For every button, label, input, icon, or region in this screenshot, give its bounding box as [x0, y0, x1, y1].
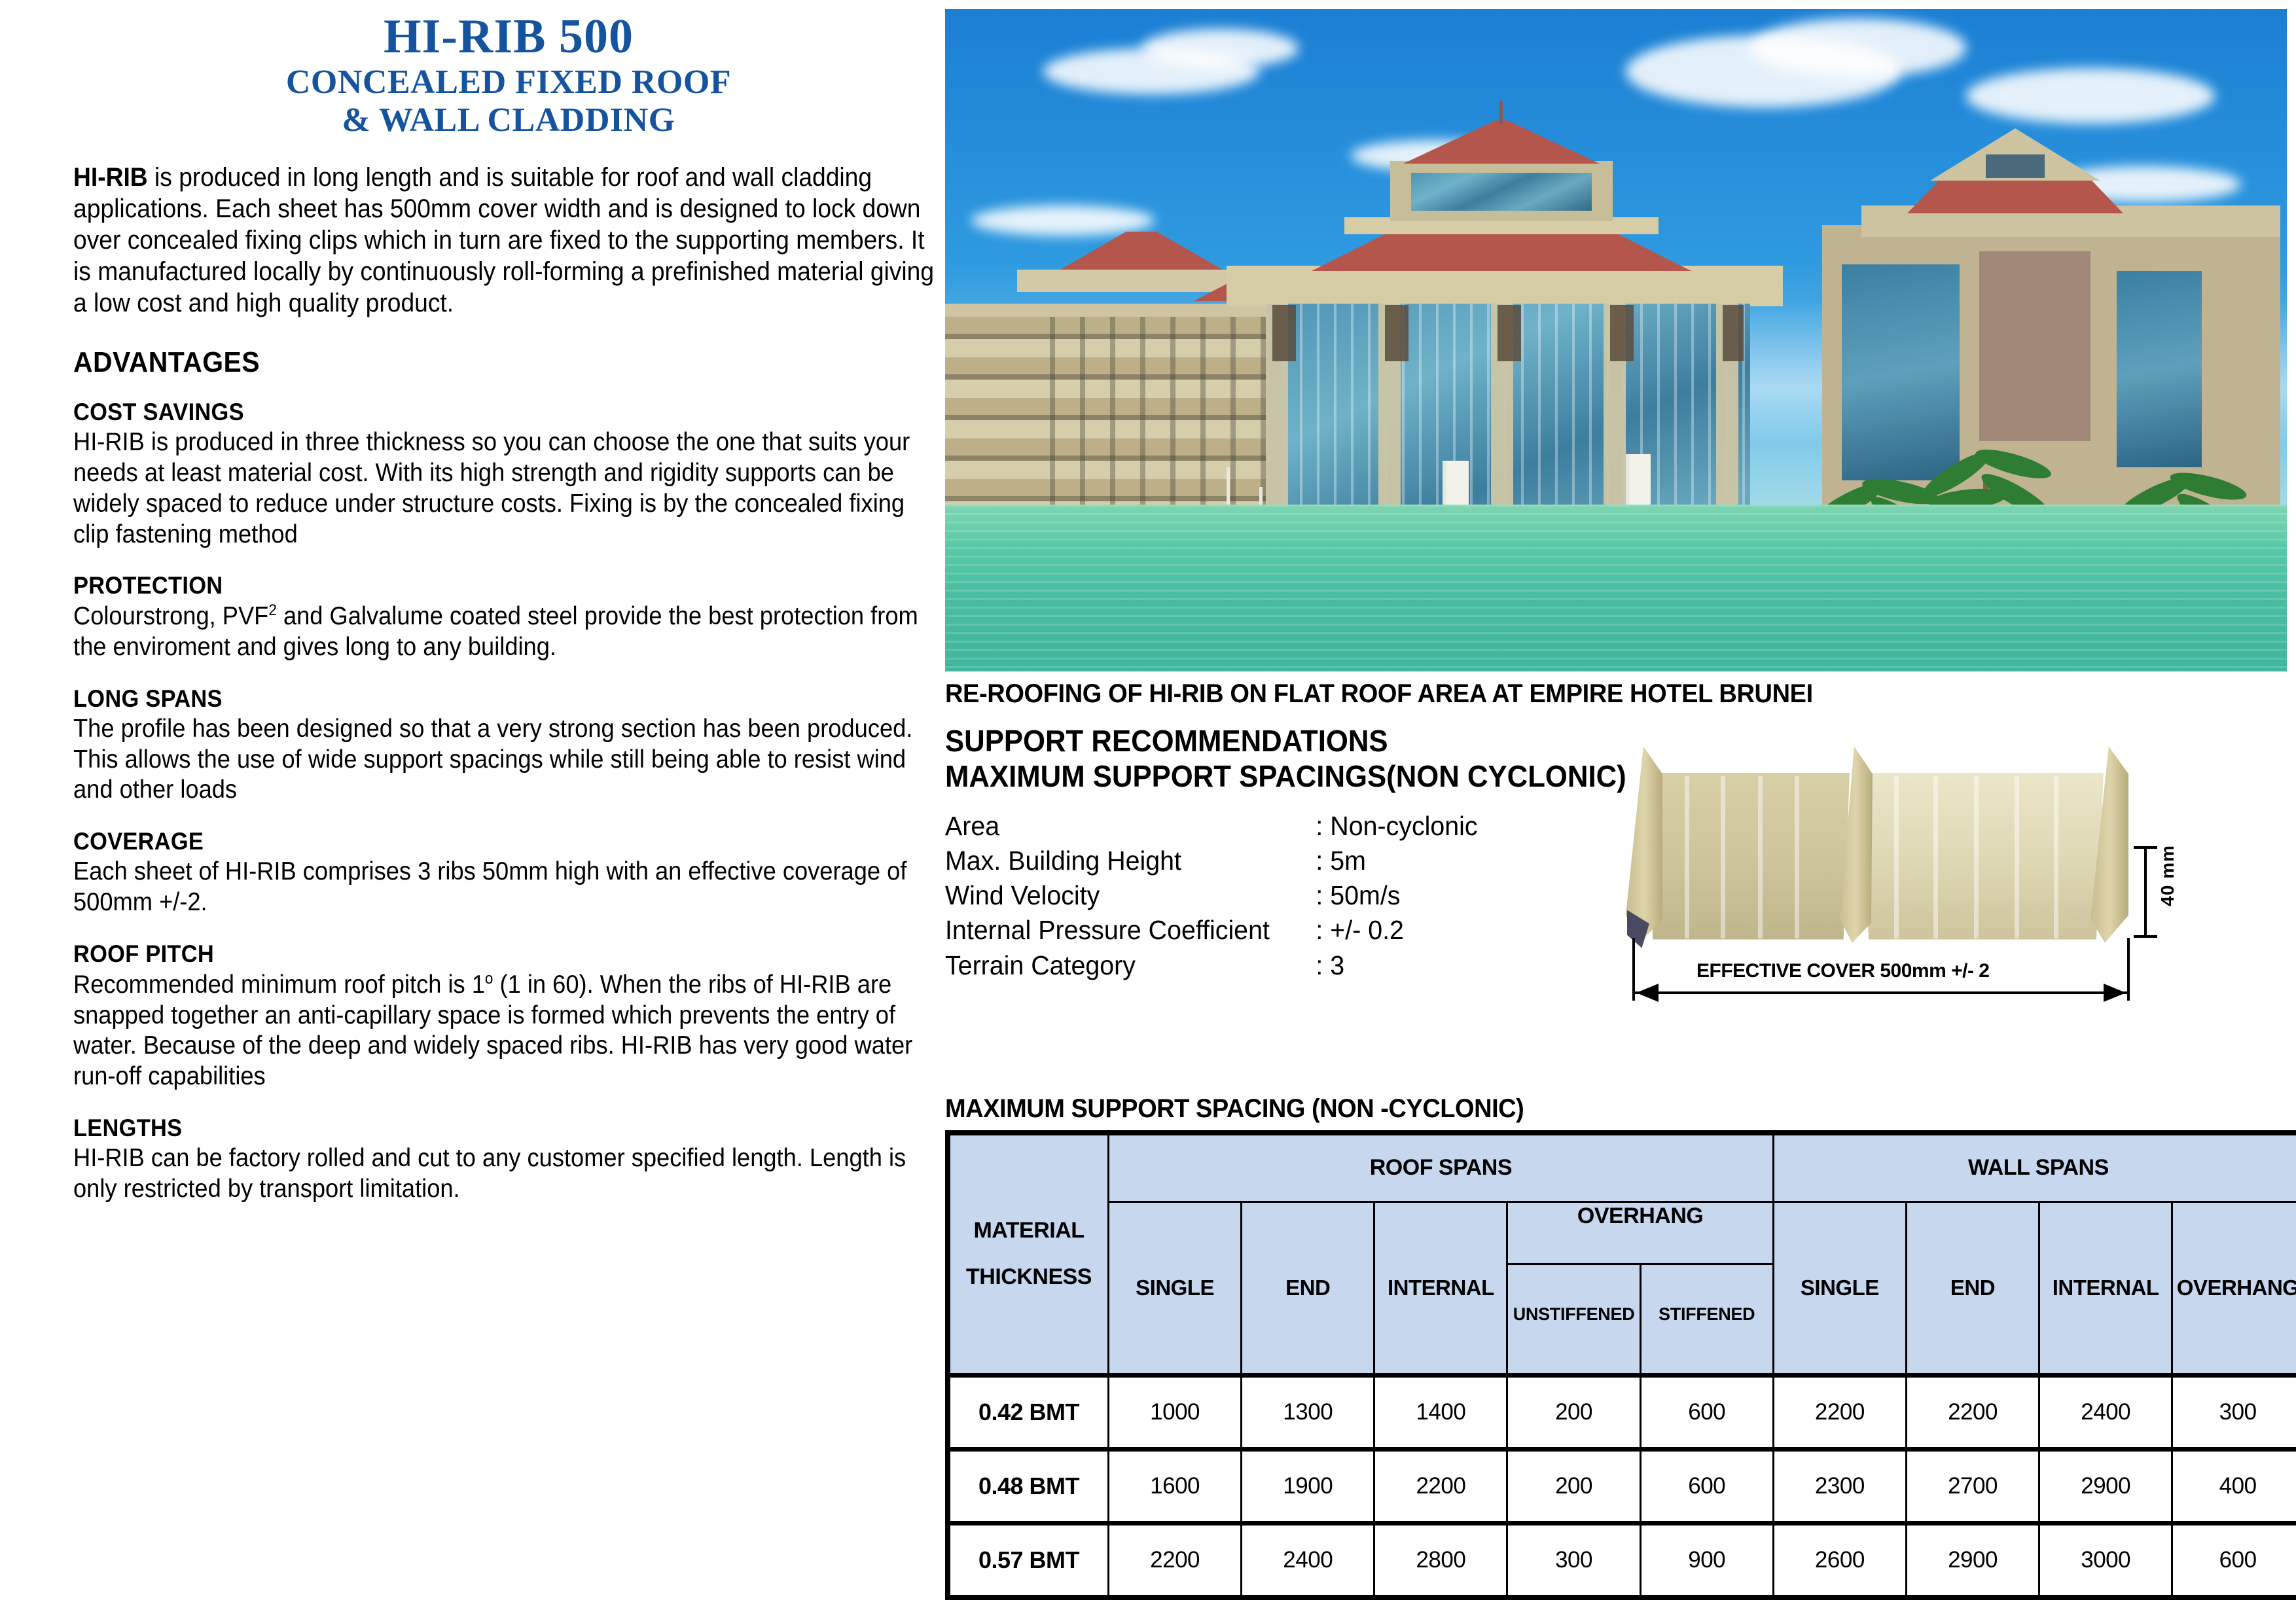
- right-wing-glass: [1842, 264, 1960, 480]
- section-cost-savings: COST SAVINGS HI-RIB is produced in three…: [73, 399, 939, 550]
- table-body: 0.42 BMT 1000 1300 1400 200 600 2200 220…: [948, 1375, 2296, 1597]
- cell-value: 2200: [1906, 1375, 2039, 1449]
- dim-cover-label: EFFECTIVE COVER 500mm +/- 2: [1696, 960, 1989, 982]
- support-spec-list: Area : Non-cyclonic Max. Building Height…: [945, 809, 1606, 983]
- dim-height-line: [2144, 846, 2147, 938]
- left-content-column: HI-RIB 500 CONCEALED FIXED ROOF & WALL C…: [73, 12, 944, 1609]
- cell-value: 2700: [1906, 1449, 2039, 1523]
- col-header-overhang-stiffened: STIFFENED: [1640, 1264, 1773, 1375]
- right-wing-gable-vent: [1986, 154, 2045, 178]
- cell-value: 2900: [1906, 1523, 2039, 1597]
- title-main: HI-RIB 500: [73, 12, 944, 62]
- section-coverage: COVERAGE Each sheet of HI-RIB comprises …: [73, 828, 939, 918]
- profile-flute: [1974, 776, 1979, 938]
- section-body: Recommended minimum roof pitch is 1o (1 …: [73, 969, 939, 1092]
- cell-value: 2200: [1374, 1449, 1507, 1523]
- roofpitch-text-pre: Recommended minimum roof pitch is 1: [73, 971, 485, 999]
- title-sub-line1: CONCEALED FIXED ROOF: [73, 65, 944, 100]
- central-tower-eave: [1227, 266, 1783, 306]
- cell-value: 600: [1640, 1449, 1773, 1523]
- roofpitch-degree-symbol: o: [485, 970, 493, 988]
- table-row: 0.48 BMT 1600 1900 2200 200 600 2300 270…: [948, 1449, 2296, 1523]
- cell-value: 2400: [2039, 1375, 2172, 1449]
- title-sub-line2: & WALL CLADDING: [73, 103, 944, 138]
- col-header-overhang-unstiffened: UNSTIFFENED: [1507, 1264, 1640, 1375]
- cell-value: 400: [2172, 1449, 2296, 1523]
- col-header-roof-end: END: [1242, 1202, 1374, 1375]
- spec-row: Wind Velocity : 50m/s: [945, 878, 1580, 913]
- col-header-material-thickness: MATERIAL THICKNESS: [948, 1133, 1109, 1376]
- cell-value: 600: [2172, 1523, 2296, 1597]
- col-header-wall-single: SINGLE: [1773, 1202, 1906, 1375]
- cell-value: 2300: [1773, 1449, 1906, 1523]
- spec-value: : 50m/s: [1316, 878, 1567, 913]
- section-body: Colourstrong, PVF2 and Galvalume coated …: [73, 601, 939, 663]
- profile-flute: [1795, 776, 1799, 938]
- cell-value: 300: [2172, 1375, 2296, 1449]
- spec-key: Internal Pressure Coefficient: [945, 913, 1316, 948]
- cloud: [1966, 68, 2215, 124]
- col-header-wall-overhang: OVERHANG: [2172, 1202, 2296, 1375]
- spec-key: Max. Building Height: [945, 844, 1316, 878]
- profile-flute: [1933, 776, 1938, 938]
- advantages-heading: ADVANTAGES: [73, 346, 883, 379]
- section-roof-pitch: ROOF PITCH Recommended minimum roof pitc…: [73, 940, 939, 1092]
- cell-value: 600: [1640, 1375, 1773, 1449]
- section-heading: ROOF PITCH: [73, 940, 939, 968]
- roof-profile-diagram: 40 mm EFFECTIVE COVER 500mm +/- 2: [1587, 747, 2202, 1028]
- profile-flute: [2054, 776, 2058, 938]
- profile-pan-left: [1647, 773, 1850, 940]
- profile-flute: [1894, 776, 1899, 938]
- spec-and-profile-block: Area : Non-cyclonic Max. Building Height…: [945, 809, 2287, 1090]
- cloud: [1750, 18, 1966, 77]
- material-header-line1: MATERIAL: [951, 1207, 1107, 1254]
- col-group-wall-spans: WALL SPANS: [1773, 1133, 2296, 1202]
- section-heading: PROTECTION: [73, 572, 939, 599]
- intro-paragraph: HI-RIB is produced in long length and is…: [73, 162, 939, 319]
- cell-value: 2200: [1773, 1375, 1906, 1449]
- dim-cover-arrow-right: [2104, 984, 2126, 1002]
- dim-height-tick-bottom: [2134, 935, 2157, 938]
- table-caption: MAXIMUM SUPPORT SPACING (NON -CYCLONIC): [945, 1094, 2220, 1124]
- spec-value: : 5m: [1316, 844, 1567, 878]
- table-row: 0.42 BMT 1000 1300 1400 200 600 2200 220…: [948, 1375, 2296, 1449]
- cloud: [971, 205, 1155, 236]
- cell-value: 2400: [1242, 1523, 1374, 1597]
- spec-value: : Non-cyclonic: [1316, 809, 1567, 844]
- cell-value: 300: [1507, 1523, 1640, 1597]
- spec-key: Area: [945, 809, 1316, 844]
- table-head: MATERIAL THICKNESS ROOF SPANS WALL SPANS…: [948, 1133, 2296, 1376]
- section-heading: COST SAVINGS: [73, 399, 939, 426]
- lagoon-water: [945, 505, 2287, 671]
- col-group-roof-spans: ROOF SPANS: [1109, 1133, 1774, 1202]
- cell-value: 2600: [1773, 1523, 1906, 1597]
- support-spacing-table: MATERIAL THICKNESS ROOF SPANS WALL SPANS…: [945, 1130, 2296, 1600]
- table-column-header-row: SINGLE END INTERNAL OVERHANG SINGLE END …: [948, 1202, 2296, 1264]
- section-protection: PROTECTION Colourstrong, PVF2 and Galval…: [73, 572, 939, 663]
- col-header-roof-single: SINGLE: [1109, 1202, 1242, 1375]
- photo-caption: RE-ROOFING OF HI-RIB ON FLAT ROOF AREA A…: [945, 679, 2220, 709]
- intro-lead: HI-RIB: [73, 163, 148, 192]
- cell-value: 200: [1507, 1375, 1640, 1449]
- cell-value: 1400: [1374, 1375, 1507, 1449]
- central-tower-brackets: [1272, 305, 1744, 361]
- spec-row: Max. Building Height : 5m: [945, 844, 1580, 878]
- spec-key: Wind Velocity: [945, 878, 1316, 913]
- section-heading: LENGTHS: [73, 1115, 939, 1142]
- col-header-wall-end: END: [1906, 1202, 2039, 1375]
- empire-hotel-photo: [945, 9, 2287, 671]
- dim-height-tick-top: [2134, 846, 2157, 849]
- section-lengths: LENGTHS HI-RIB can be factory rolled and…: [73, 1115, 939, 1205]
- profile-flute: [1758, 776, 1763, 938]
- dim-cover-arrow-left: [1636, 984, 1659, 1002]
- cell-material: 0.48 BMT: [948, 1449, 1109, 1523]
- right-wing-panel: [1979, 251, 2090, 441]
- profile-flute: [1721, 776, 1725, 938]
- right-content-column: RE-ROOFING OF HI-RIB ON FLAT ROOF AREA A…: [945, 9, 2287, 1600]
- dim-cover-line: [1634, 991, 2128, 994]
- section-heading: COVERAGE: [73, 828, 939, 855]
- spec-value: : 3: [1316, 948, 1567, 983]
- dim-height-label: 40 mm: [2157, 845, 2178, 906]
- spec-key: Terrain Category: [945, 948, 1316, 983]
- cell-value: 1600: [1109, 1449, 1242, 1523]
- profile-flute: [2015, 776, 2019, 938]
- table-row: 0.57 BMT 2200 2400 2800 300 900 2600 290…: [948, 1523, 2296, 1597]
- cell-value: 200: [1507, 1449, 1640, 1523]
- section-body: HI-RIB is produced in three thickness so…: [73, 427, 939, 550]
- cell-value: 900: [1640, 1523, 1773, 1597]
- cell-value: 1000: [1109, 1375, 1242, 1449]
- section-long-spans: LONG SPANS The profile has been designed…: [73, 685, 939, 806]
- spec-value: : +/- 0.2: [1316, 913, 1567, 948]
- col-header-roof-internal: INTERNAL: [1374, 1202, 1507, 1375]
- section-body: Each sheet of HI-RIB comprises 3 ribs 50…: [73, 857, 939, 918]
- cell-value: 3000: [2039, 1523, 2172, 1597]
- lagoon-shoreline: [945, 499, 2287, 508]
- cell-value: 1900: [1242, 1449, 1374, 1523]
- col-header-roof-overhang: OVERHANG: [1507, 1202, 1773, 1264]
- cell-value: 2800: [1374, 1523, 1507, 1597]
- spec-row: Terrain Category : 3: [945, 948, 1580, 983]
- section-heading: LONG SPANS: [73, 685, 939, 713]
- profile-flute: [1685, 776, 1689, 938]
- protection-text-pre: Colourstrong, PVF: [73, 602, 268, 630]
- right-wing-glass2: [2117, 271, 2202, 467]
- intro-text: is produced in long length and is suitab…: [73, 163, 934, 317]
- cloud: [1141, 29, 1299, 68]
- central-tower-finial: [1499, 101, 1503, 124]
- table-group-header-row: MATERIAL THICKNESS ROOF SPANS WALL SPANS: [948, 1133, 2296, 1202]
- material-header-line2: THICKNESS: [951, 1254, 1107, 1300]
- cell-material: 0.42 BMT: [948, 1375, 1109, 1449]
- protection-superscript: 2: [268, 601, 277, 619]
- cell-value: 2200: [1109, 1523, 1242, 1597]
- spec-row: Internal Pressure Coefficient : +/- 0.2: [945, 913, 1580, 948]
- spec-row: Area : Non-cyclonic: [945, 809, 1580, 844]
- page-title: HI-RIB 500 CONCEALED FIXED ROOF & WALL C…: [73, 12, 944, 138]
- section-body: The profile has been designed so that a …: [73, 714, 939, 806]
- central-tower-cupola-glass: [1411, 173, 1592, 211]
- cell-material: 0.57 BMT: [948, 1523, 1109, 1597]
- cell-value: 2900: [2039, 1449, 2172, 1523]
- col-header-wall-internal: INTERNAL: [2039, 1202, 2172, 1375]
- section-body: HI-RIB can be factory rolled and cut to …: [73, 1143, 939, 1205]
- cell-value: 1300: [1242, 1375, 1374, 1449]
